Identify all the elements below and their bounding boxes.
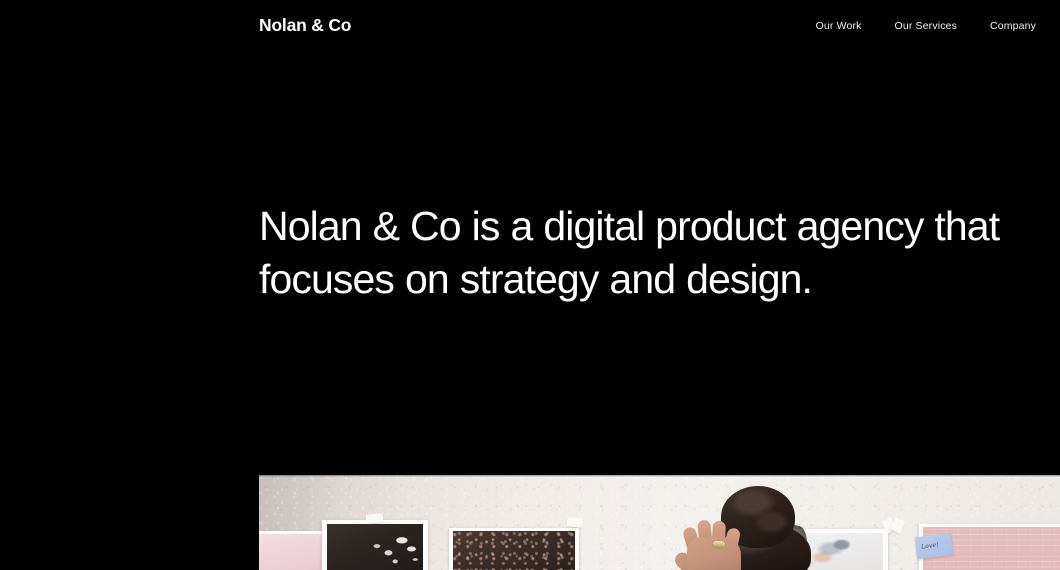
photo-top-seam: [259, 475, 1060, 477]
sticky-note: Love!: [915, 533, 953, 559]
ring: [713, 541, 725, 549]
site-logo[interactable]: Nolan & Co: [259, 17, 351, 35]
print-pink-image: [259, 534, 323, 570]
hand-on-wall: [681, 515, 749, 570]
print-blossom: [322, 520, 428, 570]
landing-page: Nolan & Co Our Work Our Services Company…: [0, 0, 1060, 570]
nav-item-company[interactable]: Company: [990, 21, 1036, 32]
nav-item-our-work[interactable]: Our Work: [816, 21, 862, 32]
masking-tape: [366, 513, 384, 524]
hero-headline: Nolan & Co is a digital product agency t…: [259, 208, 959, 297]
nav-item-our-services[interactable]: Our Services: [895, 21, 957, 32]
print-blossom-image: [327, 524, 423, 570]
masking-tape: [567, 517, 584, 527]
hero-headline-line-1: Nolan & Co is a digital product agency t…: [259, 208, 959, 244]
print-bokeh-image: [453, 531, 575, 570]
photo-scene: Love!: [259, 475, 1060, 570]
main-navigation: Our Work Our Services Company: [816, 21, 1036, 32]
hero-photograph: Love!: [259, 475, 1060, 570]
sticky-note-text: Love!: [921, 541, 940, 550]
print-pink: [259, 531, 327, 570]
print-bokeh: [449, 528, 579, 570]
hero-section: Nolan & Co is a digital product agency t…: [259, 208, 959, 297]
hero-headline-line-2: focuses on strategy and design.: [259, 261, 959, 297]
site-header: Nolan & Co Our Work Our Services Company: [0, 0, 1060, 56]
